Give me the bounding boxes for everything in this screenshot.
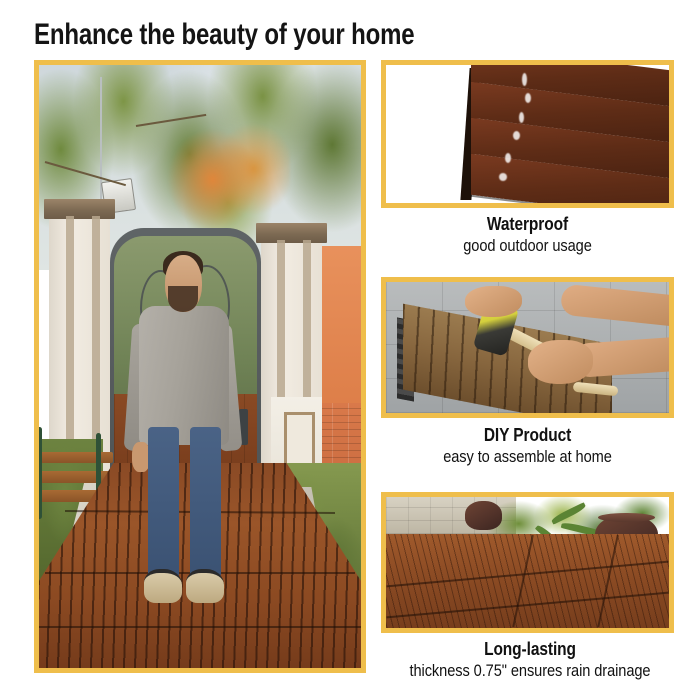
waterproof-photo-scene	[386, 65, 669, 203]
water-droplet	[499, 173, 507, 181]
hand	[465, 286, 522, 317]
caption-waterproof: Waterproof good outdoor usage	[381, 214, 674, 256]
clay-pot	[465, 501, 502, 530]
caption-subtitle: thickness 0.75" ensures rain drainage	[392, 660, 667, 681]
water-droplet	[519, 112, 524, 123]
feature-photo-longlasting	[381, 492, 674, 633]
feature-photo-waterproof	[381, 60, 674, 208]
feature-photo-diy	[381, 277, 674, 418]
man-jeans	[145, 427, 222, 572]
man-shoe	[144, 569, 183, 603]
caption-title: DIY Product	[402, 425, 654, 446]
page-title: Enhance the beauty of your home	[34, 18, 546, 54]
water-droplet	[522, 73, 527, 86]
pier-cap-left	[44, 199, 115, 220]
caption-title: Waterproof	[402, 214, 654, 235]
main-hero-photo	[34, 60, 366, 673]
diy-photo-scene	[386, 282, 669, 413]
caption-diy: DIY Product easy to assemble at home	[381, 425, 674, 467]
deck-tile-seam	[39, 626, 361, 628]
pier-cap-right	[256, 223, 327, 244]
caption-subtitle: easy to assemble at home	[402, 446, 654, 467]
longlasting-photo-scene	[386, 497, 669, 628]
caption-title: Long-lasting	[392, 639, 667, 660]
water-droplet	[525, 93, 531, 103]
caption-longlasting: Long-lasting thickness 0.75" ensures rai…	[370, 639, 690, 681]
man-shirt	[139, 306, 229, 445]
main-photo-scene	[39, 65, 361, 668]
man-shoe	[186, 569, 225, 603]
caption-subtitle: good outdoor usage	[402, 235, 654, 256]
clay-pot-rim	[598, 513, 655, 522]
hand	[528, 340, 593, 385]
